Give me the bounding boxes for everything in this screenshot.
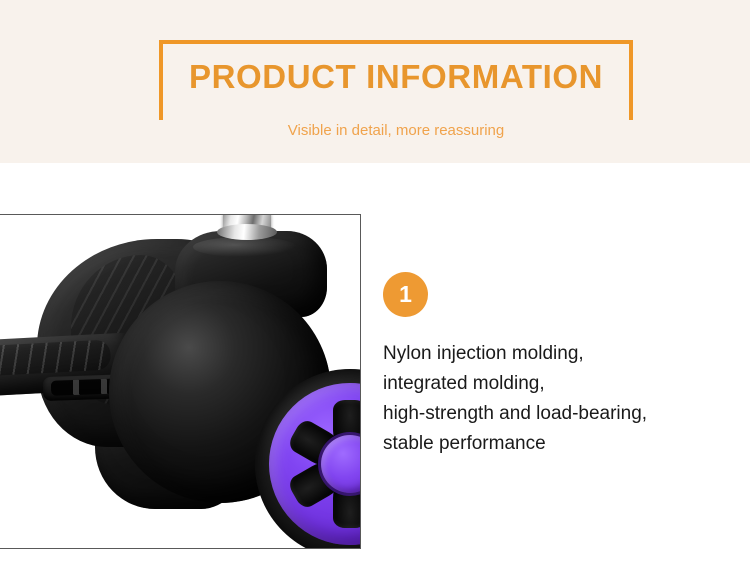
wheel-tire <box>109 281 331 503</box>
feature-description: Nylon injection molding, integ­rated mol… <box>383 339 647 459</box>
page-title: PRODUCT INFORMATION <box>159 58 633 96</box>
product-information-page: PRODUCT INFORMATION Visible in detail, m… <box>0 0 750 562</box>
caster-housing-highlight <box>193 237 297 257</box>
product-photo <box>0 215 360 548</box>
feature-number-badge: 1 <box>383 272 428 317</box>
brake-pedal-grooves <box>0 340 111 378</box>
caster-wheel-illustration <box>0 214 359 549</box>
title-frame: PRODUCT INFORMATION Visible in detail, m… <box>159 40 633 132</box>
product-image-frame <box>0 214 361 549</box>
frame-border-top <box>159 40 633 44</box>
chrome-stem-collar <box>217 224 277 240</box>
feature-item-1: 1 Nylon injection molding, integ­rated m… <box>383 272 647 459</box>
page-subtitle: Visible in detail, more reassuring <box>159 120 633 142</box>
header-banner: PRODUCT INFORMATION Visible in detail, m… <box>0 0 750 163</box>
